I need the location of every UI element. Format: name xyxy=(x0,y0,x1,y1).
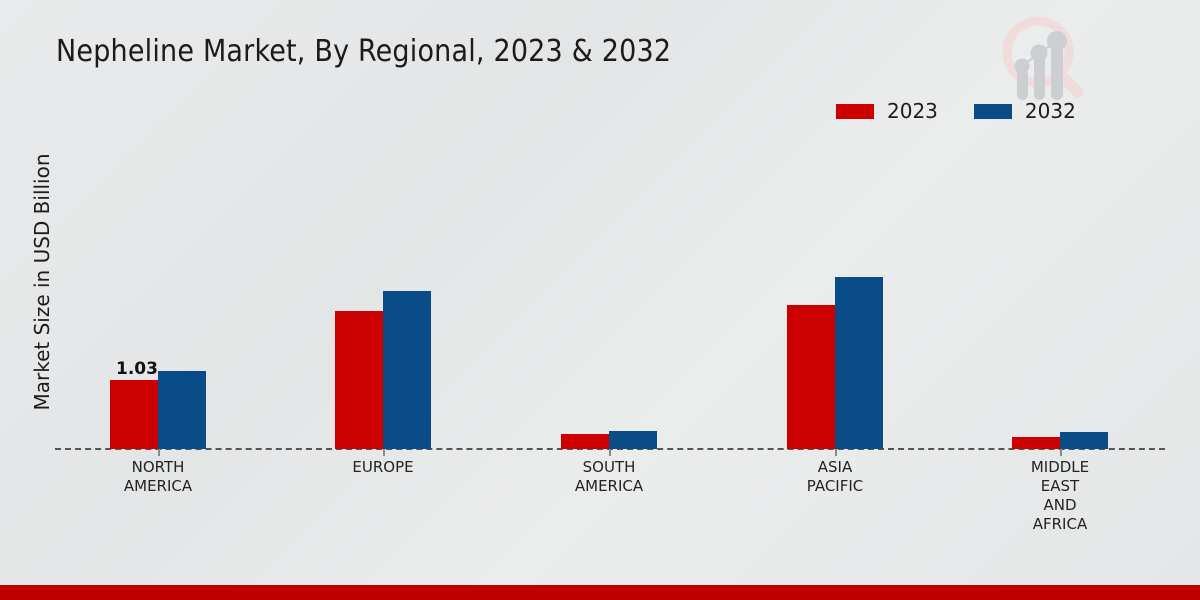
x-axis-label-line: AMERICA xyxy=(509,477,709,496)
x-axis-label-line: AFRICA xyxy=(960,515,1160,534)
x-axis-label: EUROPE xyxy=(283,458,483,477)
bar-pair xyxy=(110,371,206,449)
x-axis-tick xyxy=(609,449,611,456)
bar-2023[interactable] xyxy=(335,311,383,449)
x-axis-label-line: MIDDLE xyxy=(960,458,1160,477)
bar-2023[interactable] xyxy=(561,434,609,449)
x-axis-label: SOUTHAMERICA xyxy=(509,458,709,496)
bar-2032[interactable] xyxy=(835,277,883,449)
bar-2032[interactable] xyxy=(1060,432,1108,449)
bar-pair xyxy=(787,277,883,449)
x-axis-label-line: EUROPE xyxy=(283,458,483,477)
bar-pair xyxy=(561,431,657,449)
x-axis-label: NORTHAMERICA xyxy=(58,458,258,496)
bar-2032[interactable] xyxy=(609,431,657,449)
plot-area: 1.03NORTHAMERICAEUROPESOUTHAMERICAASIAPA… xyxy=(0,0,1200,600)
chart-canvas: Nepheline Market, By Regional, 2023 & 20… xyxy=(0,0,1200,600)
x-axis-label-line: ASIA xyxy=(735,458,935,477)
x-axis-tick xyxy=(1060,449,1062,456)
x-axis-tick xyxy=(383,449,385,456)
x-axis-label-line: PACIFIC xyxy=(735,477,935,496)
bar-2032[interactable] xyxy=(383,291,431,449)
x-axis-tick xyxy=(835,449,837,456)
x-axis-label: MIDDLEEASTANDAFRICA xyxy=(960,458,1160,534)
x-axis-label: ASIAPACIFIC xyxy=(735,458,935,496)
x-axis-label-line: EAST xyxy=(960,477,1160,496)
bar-pair xyxy=(335,291,431,449)
bar-2023[interactable] xyxy=(110,380,158,449)
x-axis-tick xyxy=(158,449,160,456)
x-axis-label-line: AMERICA xyxy=(58,477,258,496)
bar-pair xyxy=(1012,432,1108,449)
bar-2032[interactable] xyxy=(158,371,206,449)
bottom-accent-stripe xyxy=(0,585,1200,600)
bar-2023[interactable] xyxy=(1012,437,1060,449)
x-axis-label-line: SOUTH xyxy=(509,458,709,477)
x-axis-label-line: AND xyxy=(960,496,1160,515)
bar-value-label: 1.03 xyxy=(116,359,158,379)
x-axis-label-line: NORTH xyxy=(58,458,258,477)
bar-2023[interactable] xyxy=(787,305,835,449)
